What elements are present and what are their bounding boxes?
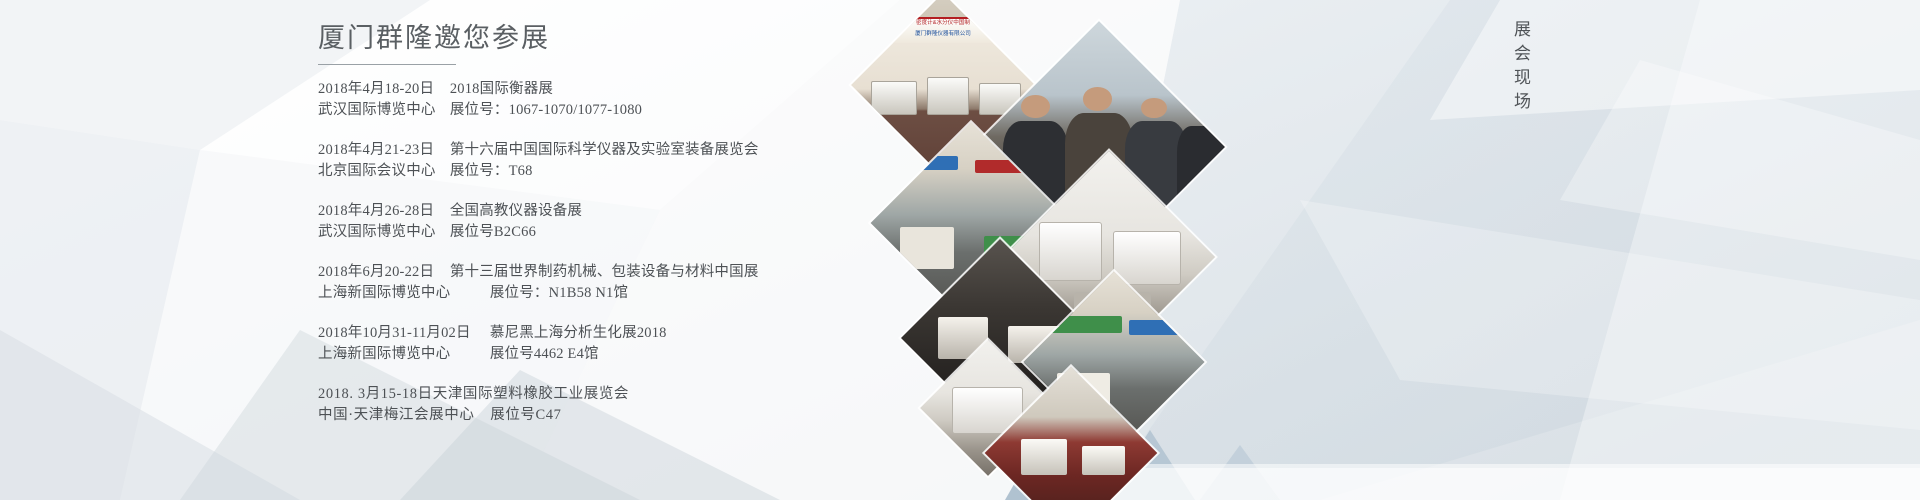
photo-collage: 密度计&水分仪中国制 厦门群隆仪器有限公司 [838,0,1258,500]
event-booth: 展位号：T68 [450,161,533,182]
exhibition-info-panel: 厦门群隆邀您参展 2018年4月18-20日 2018国际衡器展 武汉国际博览中… [318,22,878,445]
event-venue: 武汉国际博览中心 [318,100,446,121]
event-line-date: 2018年4月18-20日 2018国际衡器展 [318,79,878,100]
person-body [1177,126,1225,220]
person-head [1021,95,1050,118]
event-line-date: 2018年4月26-28日 全国高教仪器设备展 [318,201,878,222]
instrument-shape [1021,439,1068,475]
event-name: 慕尼黑上海分析生化展2018 [490,323,667,344]
device-shape [927,77,969,115]
instrument-shape [1039,222,1103,281]
event-booth: 展位号C47 [490,405,561,426]
booth-banner: 密度计&水分仪中国制 厦门群隆仪器有限公司 [859,17,1027,43]
caption-char-3: 现 [1513,66,1535,90]
promo-banner: 厦门群隆邀您参展 2018年4月18-20日 2018国际衡器展 武汉国际博览中… [0,0,1920,500]
banner-text-primary: 密度计&水分仪中国制 [891,19,995,26]
event-name: 第十三届世界制药机械、包装设备与材料中国展 [450,262,759,283]
caption-char-4: 场 [1513,90,1535,114]
event-line-venue: 武汉国际博览中心 展位号B2C66 [318,222,878,243]
event-date: 2018年10月31-11月02日 [318,323,486,344]
event-line-date: 2018. 3月15-18日天津国际塑料橡胶工业展览会 [318,384,878,405]
event-date: 2018年4月26-28日 [318,201,446,222]
event-line-venue: 北京国际会议中心 展位号：T68 [318,161,878,182]
list-item: 2018年4月18-20日 2018国际衡器展 武汉国际博览中心 展位号：106… [318,79,878,121]
event-booth: 展位号：N1B58 N1馆 [490,283,628,304]
event-date: 2018年4月18-20日 [318,79,446,100]
event-line-date: 2018年6月20-22日 第十三届世界制药机械、包装设备与材料中国展 [318,262,878,283]
event-line-date: 2018年4月21-23日 第十六届中国国际科学仪器及实验室装备展览会 [318,140,878,161]
instrument-shape [1082,446,1125,475]
page-title: 厦门群隆邀您参展 [318,22,878,54]
event-booth: 展位号4462 E4馆 [490,344,599,365]
vertical-caption: 展 会 现 场 [1513,18,1535,114]
event-line-venue: 上海新国际博览中心 展位号：N1B58 N1馆 [318,283,878,304]
instrument-shape [1113,231,1181,286]
event-date: 2018. 3月15-18日天津国际塑料橡胶工业展览会 [318,384,629,405]
signage-shape [1129,320,1182,335]
event-venue: 中国·天津梅江会展中心 [318,405,486,426]
list-item: 2018年4月26-28日 全国高教仪器设备展 武汉国际博览中心 展位号B2C6… [318,201,878,243]
exhibition-list: 2018年4月18-20日 2018国际衡器展 武汉国际博览中心 展位号：106… [318,79,878,426]
list-item: 2018年10月31-11月02日 慕尼黑上海分析生化展2018 上海新国际博览… [318,323,878,365]
event-date: 2018年4月21-23日 [318,140,446,161]
event-date: 2018年6月20-22日 [318,262,446,283]
caption-char-1: 展 [1513,18,1535,42]
event-name: 全国高教仪器设备展 [450,201,582,222]
list-item: 2018年4月21-23日 第十六届中国国际科学仪器及实验室装备展览会 北京国际… [318,140,878,182]
person-head [1083,87,1112,110]
event-venue: 武汉国际博览中心 [318,222,446,243]
event-booth: 展位号B2C66 [450,222,536,243]
list-item: 2018. 3月15-18日天津国际塑料橡胶工业展览会 中国·天津梅江会展中心 … [318,384,878,426]
event-booth: 展位号：1067-1070/1077-1080 [450,100,642,121]
event-line-date: 2018年10月31-11月02日 慕尼黑上海分析生化展2018 [318,323,878,344]
banner-text-secondary: 厦门群隆仪器有限公司 [891,30,995,37]
event-line-venue: 上海新国际博览中心 展位号4462 E4馆 [318,344,878,365]
event-venue: 北京国际会议中心 [318,161,446,182]
booth-shape [900,227,955,269]
event-name: 第十六届中国国际科学仪器及实验室装备展览会 [450,140,759,161]
event-name: 2018国际衡器展 [450,79,553,100]
event-venue: 上海新国际博览中心 [318,283,486,304]
signage-shape [887,156,958,171]
event-line-venue: 中国·天津梅江会展中心 展位号C47 [318,405,878,426]
title-underline [318,64,456,65]
person-head [1141,98,1167,119]
event-line-venue: 武汉国际博览中心 展位号：1067-1070/1077-1080 [318,100,878,121]
list-item: 2018年6月20-22日 第十三届世界制药机械、包装设备与材料中国展 上海新国… [318,262,878,304]
caption-char-2: 会 [1513,42,1535,66]
event-venue: 上海新国际博览中心 [318,344,486,365]
